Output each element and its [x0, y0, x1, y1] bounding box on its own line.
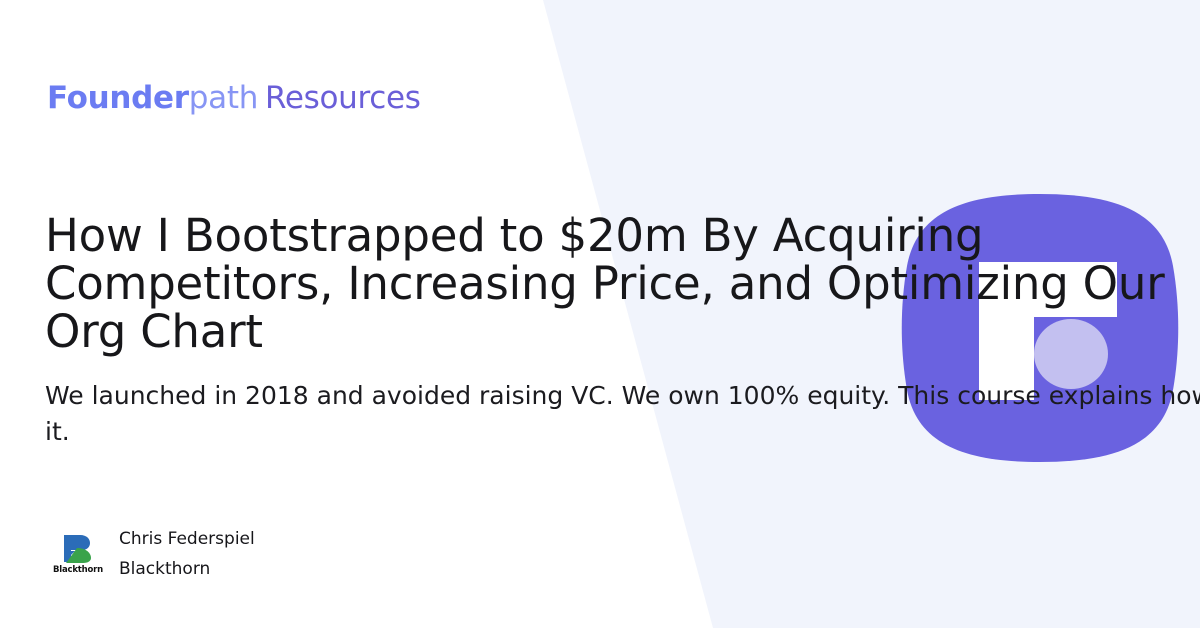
author-details: Chris Federspiel Blackthorn: [119, 524, 255, 584]
page-title: How I Bootstrapped to $20m By Acquiring …: [45, 212, 1200, 356]
social-card: FounderpathResources How I Bootstrapped …: [0, 0, 1200, 628]
brand-word-path: path: [189, 80, 258, 116]
blackthorn-wordmark: Blackthorn: [53, 565, 103, 575]
brand-word-resources: Resources: [265, 80, 421, 116]
founderpath-resources-logo[interactable]: FounderpathResources: [47, 79, 421, 117]
author-name: Chris Federspiel: [119, 524, 255, 554]
blackthorn-logo-icon: Blackthorn: [47, 534, 109, 575]
author-block: Blackthorn Chris Federspiel Blackthorn: [47, 524, 255, 584]
author-company: Blackthorn: [119, 554, 255, 584]
brand-word-founder: Founder: [47, 80, 189, 116]
page-subtitle: We launched in 2018 and avoided raising …: [45, 378, 1200, 450]
